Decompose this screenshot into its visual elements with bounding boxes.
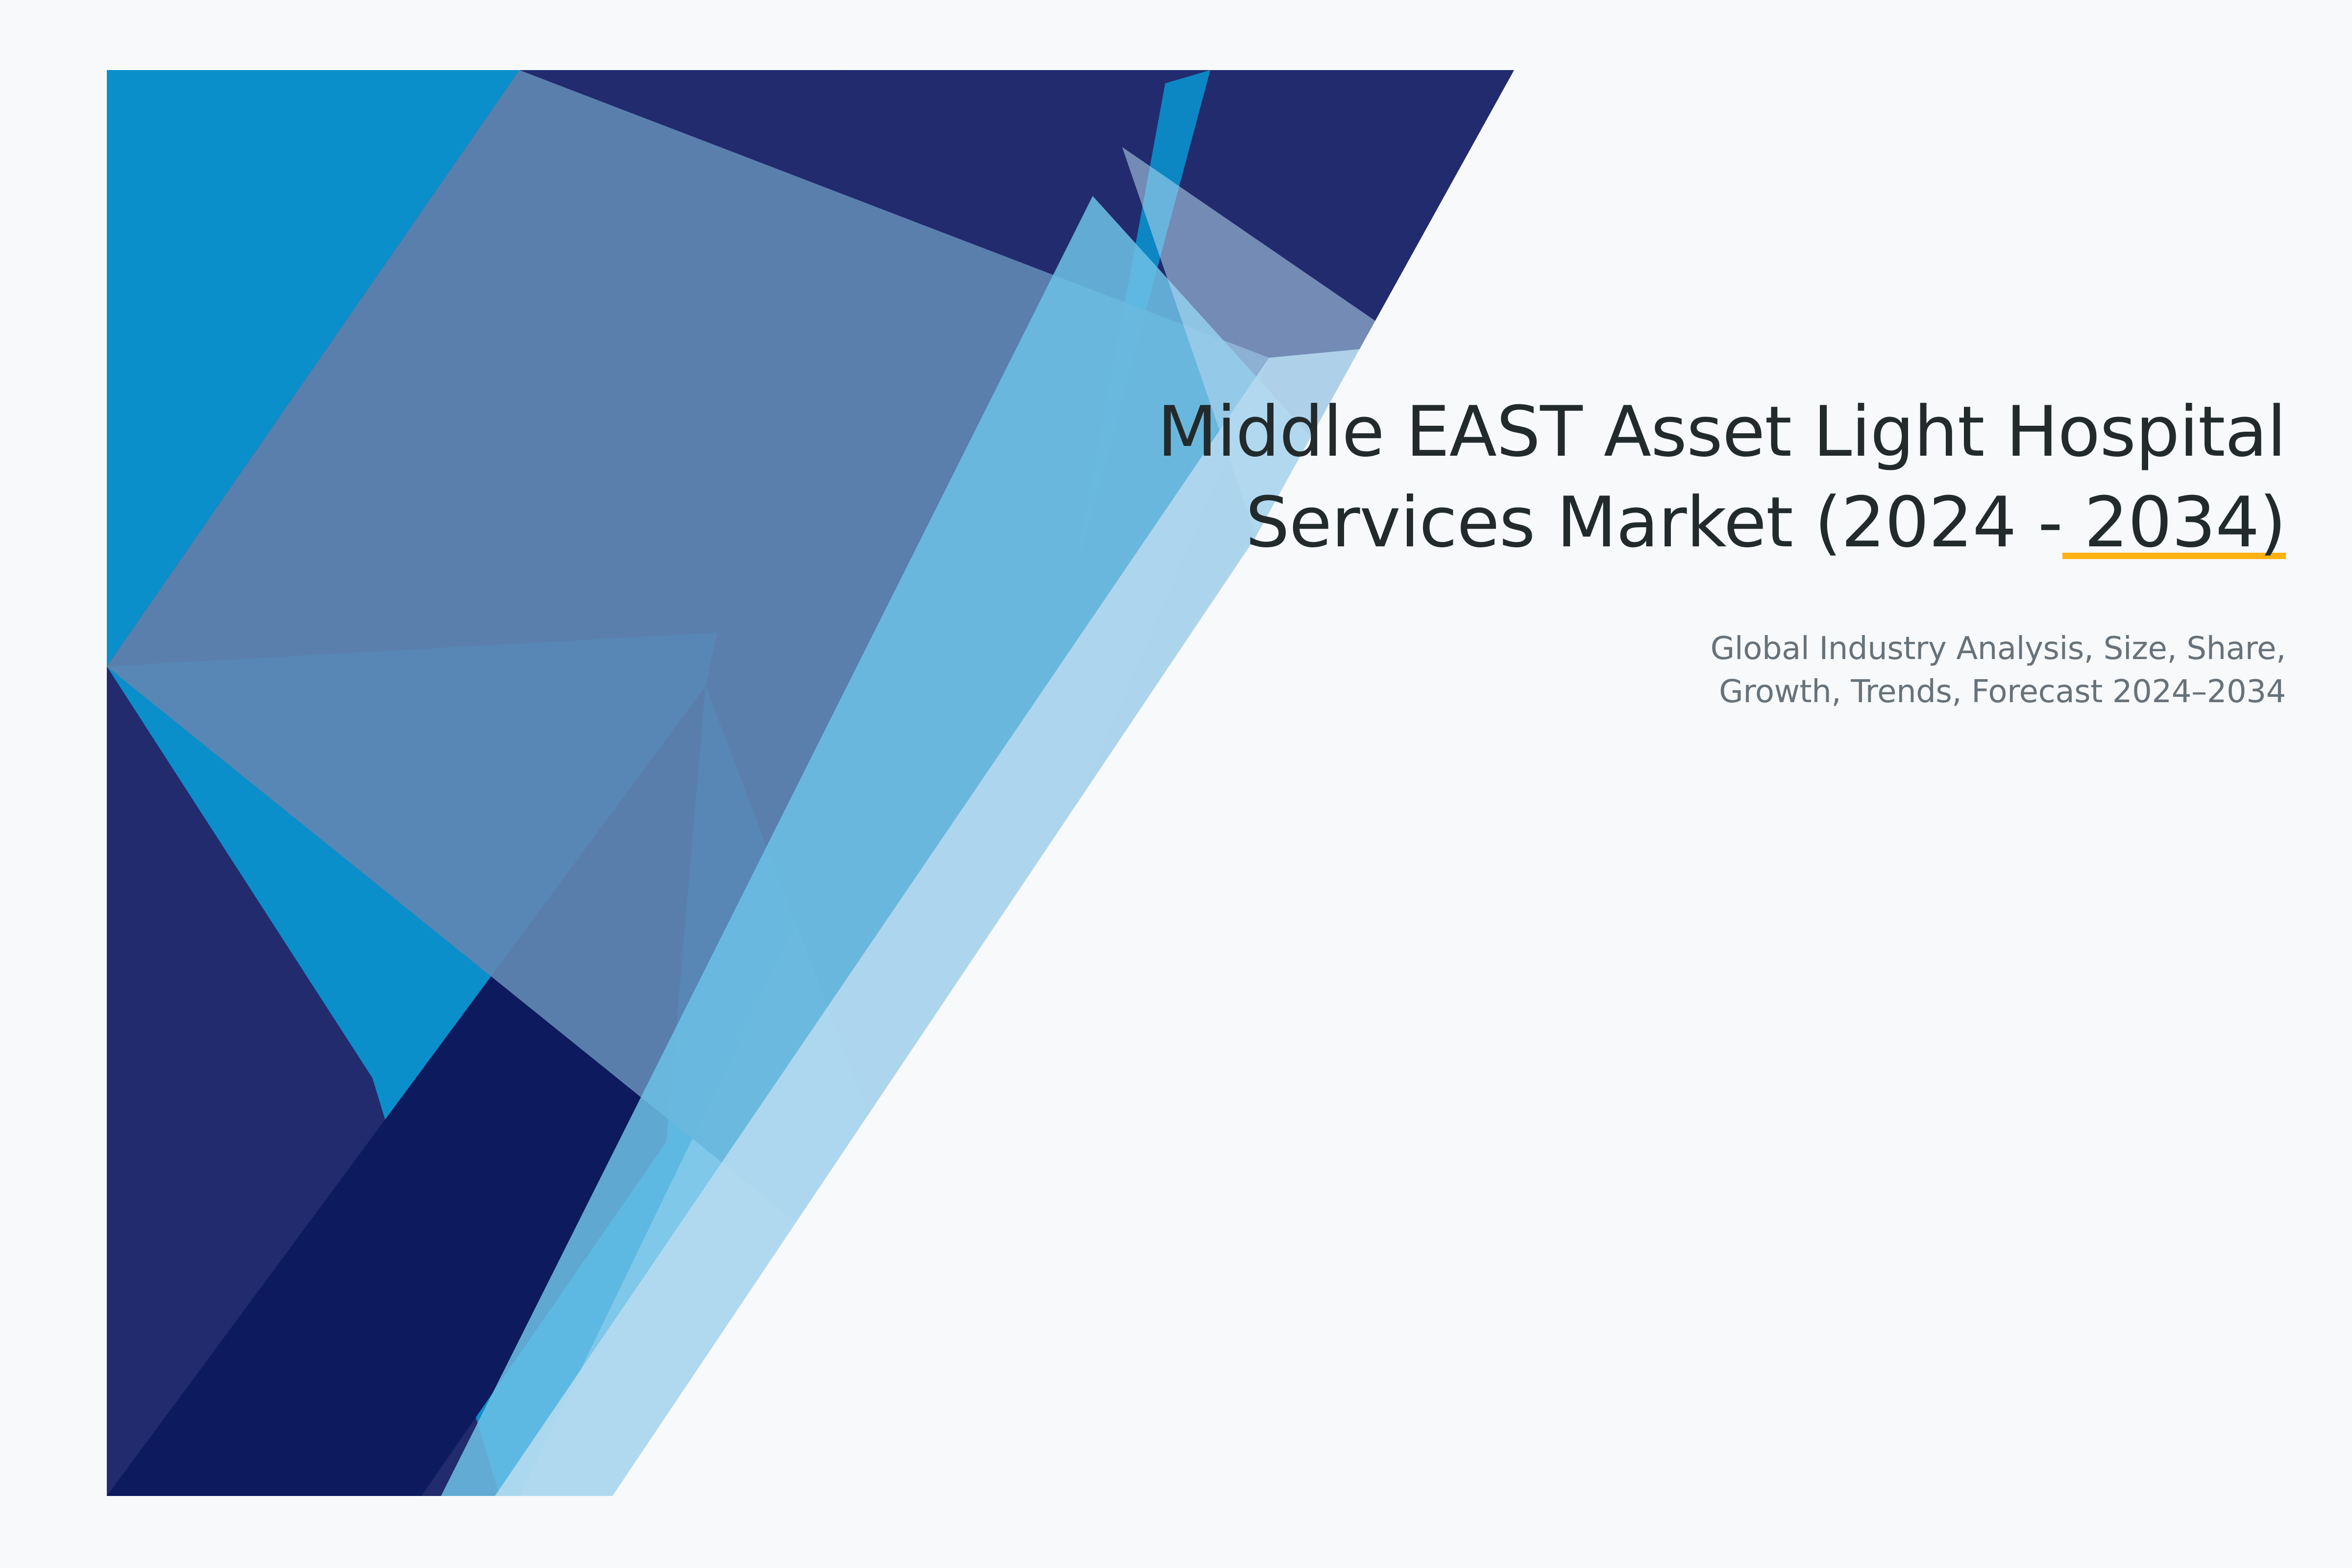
page-title: Middle EAST Asset Light HospitalServices… [938, 387, 2286, 568]
page-subtitle-line-1: Global Industry Analysis, Size, Share, [1711, 631, 2286, 667]
artwork-mask-left [0, 0, 107, 1568]
cover-text-block: Middle EAST Asset Light HospitalServices… [938, 387, 2286, 714]
artwork-mask-bottom [0, 1496, 2352, 1568]
page-title-line-1: Middle EAST Asset Light Hospital [1157, 392, 2286, 472]
page-title-highlight: 2034) [2062, 482, 2286, 563]
artwork-mask-top [0, 0, 2352, 70]
page-subtitle-line-2: Growth, Trends, Forecast 2024–2034 [1719, 674, 2286, 710]
abstract-polygon-artwork [0, 0, 2352, 1568]
cover-page: Middle EAST Asset Light HospitalServices… [0, 0, 2352, 1568]
page-title-line-2-prefix: Services Market (2024 - [1246, 482, 2062, 563]
page-subtitle: Global Industry Analysis, Size, Share,Gr… [938, 568, 2286, 713]
